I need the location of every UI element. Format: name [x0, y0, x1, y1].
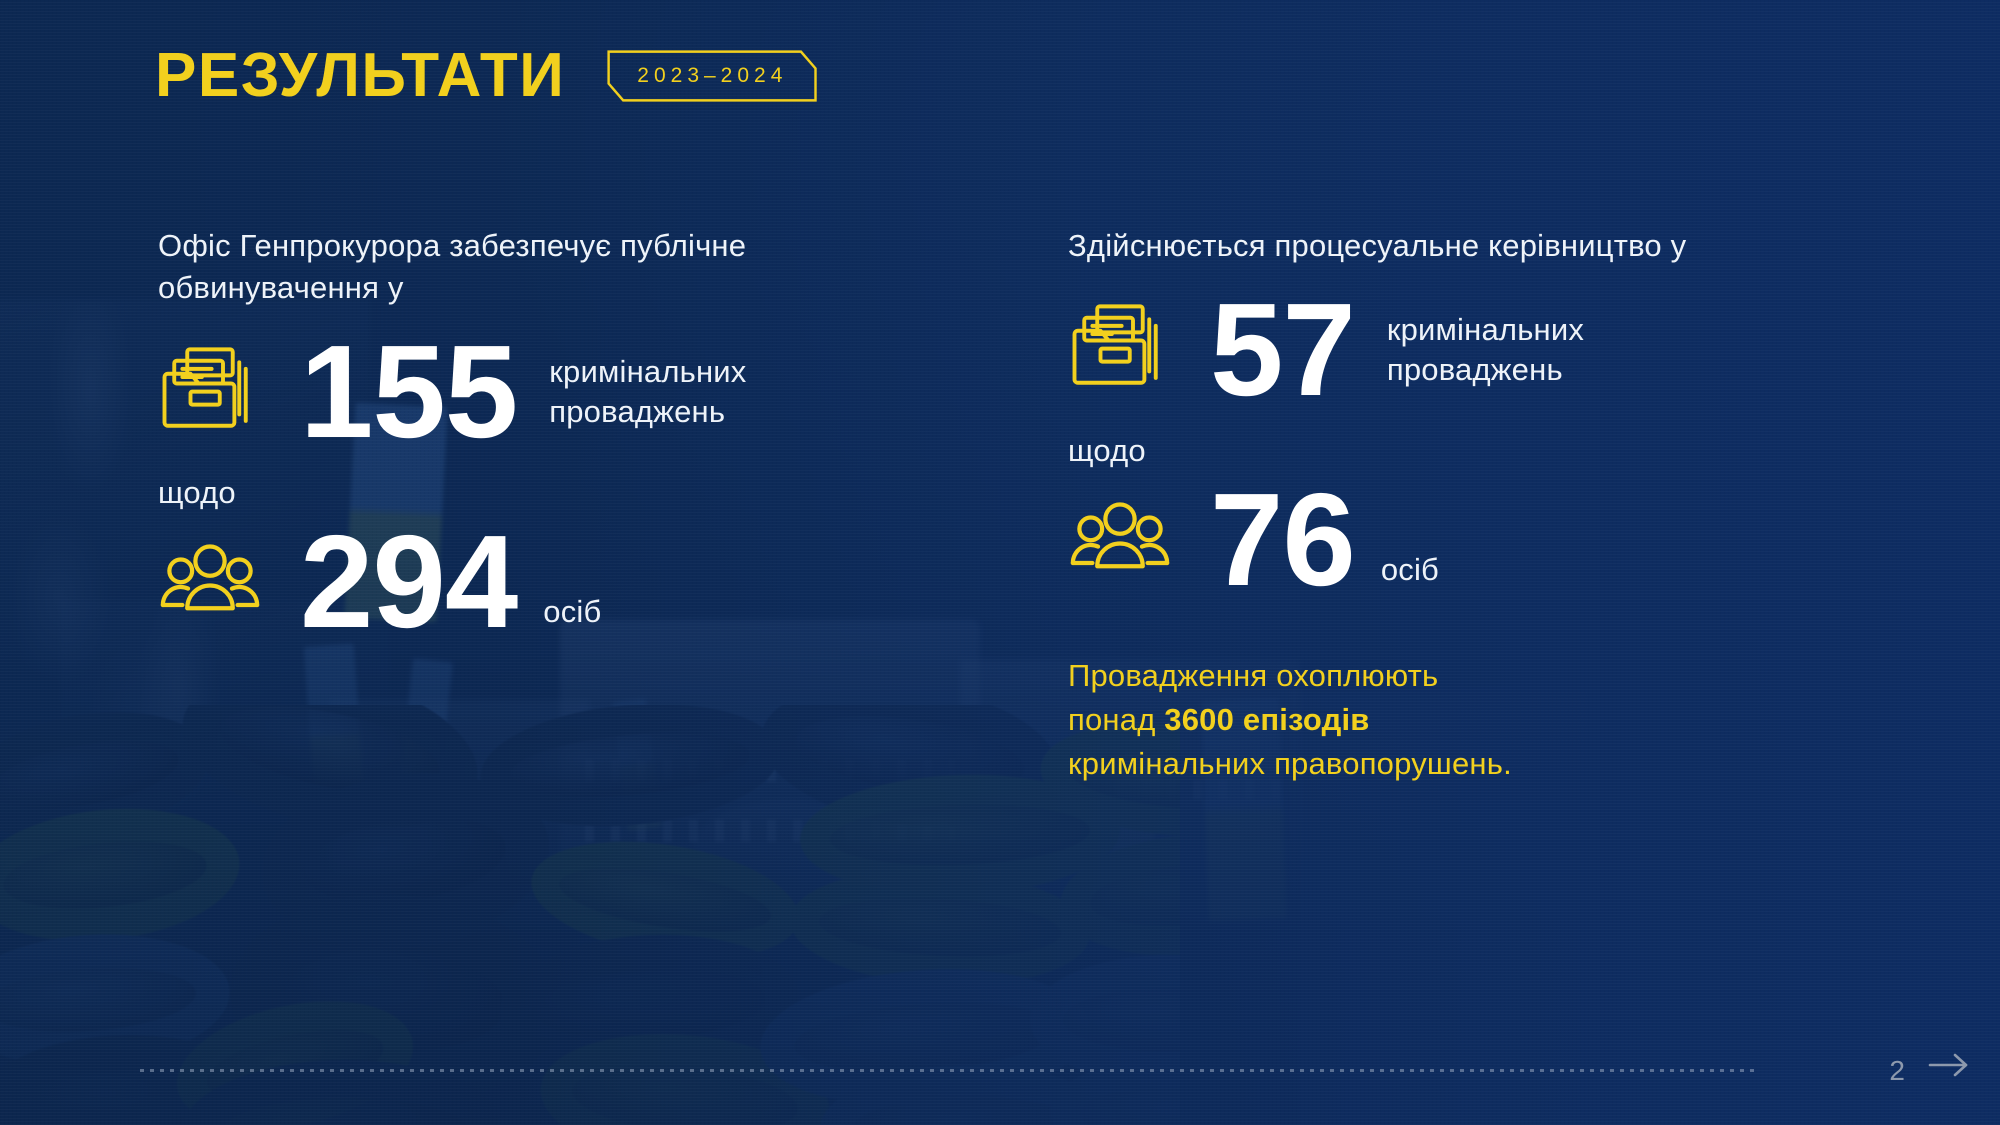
- note-episodes-count: 3600 епізодів: [1164, 702, 1369, 737]
- column-right-cases-value: 57: [1210, 289, 1355, 410]
- column-right-connector: щодо: [1068, 433, 1828, 469]
- column-right-cases-unit: кримінальних проваджень: [1387, 310, 1637, 391]
- column-left-people-unit: осіб: [543, 592, 601, 642]
- slide-canvas: РЕЗУЛЬТАТИ 2023–2024 Офіс Генпрокурора з…: [0, 0, 2000, 1125]
- column-right-people-value: 76: [1210, 479, 1355, 600]
- column-left-people-stat: 294 осіб: [158, 521, 918, 642]
- column-left-cases-unit: кримінальних проваджень: [549, 352, 799, 433]
- slide-header: РЕЗУЛЬТАТИ 2023–2024: [155, 45, 817, 107]
- column-left-cases-value: 155: [300, 331, 517, 452]
- note-line-1: Провадження охоплюють: [1068, 654, 1828, 698]
- column-left-lead: Офіс Генпрокурора забезпечує публічне об…: [158, 225, 918, 309]
- column-right: Здійснюється процесуальне керівництво у …: [1068, 225, 1828, 786]
- footer-divider: [140, 1069, 1760, 1072]
- note-line-2-prefix: понад: [1068, 702, 1164, 737]
- column-right-cases-stat: 57 кримінальних проваджень: [1068, 289, 1828, 410]
- column-right-people-unit: осіб: [1381, 550, 1439, 600]
- note-line-2: понад 3600 епізодів: [1068, 698, 1828, 742]
- people-group-icon: [158, 527, 262, 636]
- period-badge-label: 2023–2024: [637, 64, 787, 87]
- people-group-icon: [1068, 485, 1172, 594]
- column-right-lead: Здійснюється процесуальне керівництво у: [1068, 225, 1828, 267]
- page-title: РЕЗУЛЬТАТИ: [155, 45, 565, 107]
- column-left-people-value: 294: [300, 521, 517, 642]
- column-left-cases-stat: 155 кримінальних проваджень: [158, 331, 918, 452]
- column-left: Офіс Генпрокурора забезпечує публічне об…: [158, 225, 918, 642]
- period-badge: 2023–2024: [607, 50, 817, 102]
- column-right-note: Провадження охоплюють понад 3600 епізоді…: [1068, 654, 1828, 786]
- page-number: 2: [1889, 1055, 1905, 1087]
- folder-documents-icon: [1068, 295, 1172, 404]
- arrow-right-icon[interactable]: [1926, 1050, 1972, 1085]
- column-left-connector: щодо: [158, 475, 918, 511]
- note-line-3: кримінальних правопорушень.: [1068, 742, 1828, 786]
- column-right-people-stat: 76 осіб: [1068, 479, 1828, 600]
- folder-documents-icon: [158, 338, 262, 447]
